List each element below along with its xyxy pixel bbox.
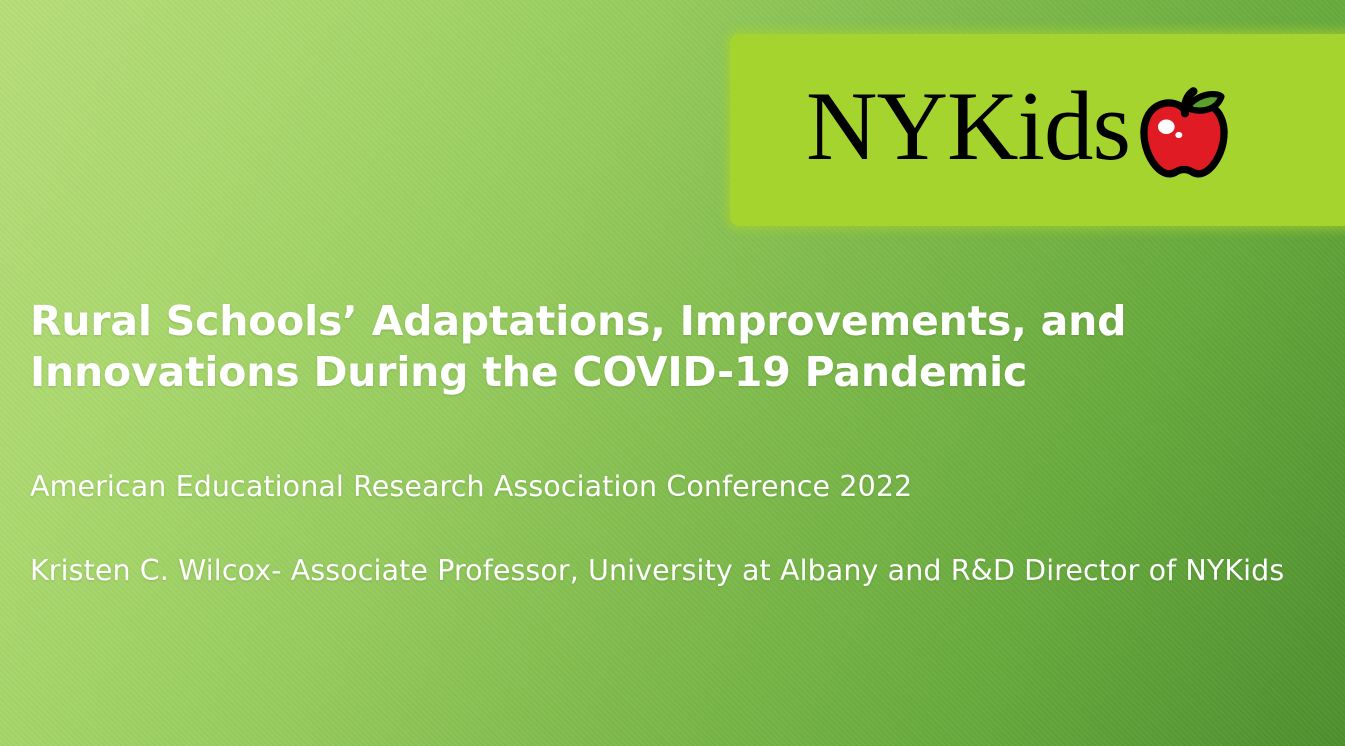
nykids-logo-panel: NYKids bbox=[730, 34, 1345, 226]
presenter-name: Kristen C. Wilcox- Associate Professor, … bbox=[30, 552, 1310, 589]
conference-name: American Educational Research Associatio… bbox=[30, 468, 1310, 505]
presentation-slide: NYKids Rural Schools’ Adaptations, Impro… bbox=[0, 0, 1345, 746]
slide-text-block: Rural Schools’ Adaptations, Improvements… bbox=[30, 296, 1310, 589]
slide-subtitle-group: American Educational Research Associatio… bbox=[30, 468, 1310, 589]
apple-icon bbox=[1132, 82, 1236, 186]
slide-title: Rural Schools’ Adaptations, Improvements… bbox=[30, 296, 1310, 398]
nykids-wordmark: NYKids bbox=[806, 77, 1130, 176]
logo-lockup: NYKids bbox=[806, 78, 1236, 182]
